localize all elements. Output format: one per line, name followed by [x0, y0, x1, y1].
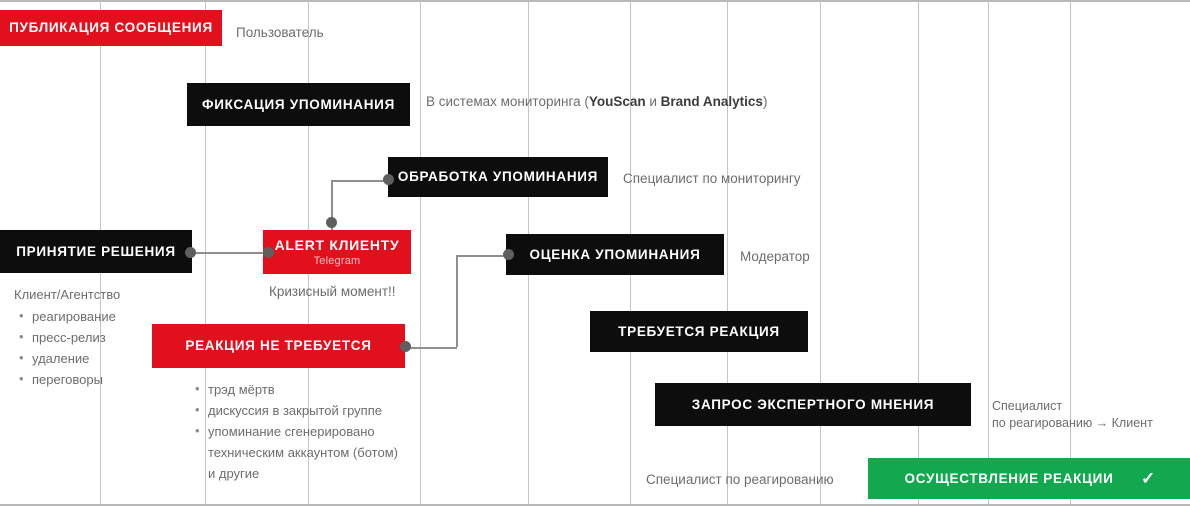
grid-line [988, 2, 989, 504]
node-dot-decision-out [185, 247, 196, 258]
note-monitoring-mid: и [646, 94, 661, 109]
note-response-specialist-client: Специалист по реагированию → Клиент [992, 398, 1153, 432]
stage-decision[interactable]: ПРИНЯТИЕ РЕШЕНИЯ [0, 230, 192, 273]
stage-reaction-needed-label: ТРЕБУЕТСЯ РЕАКЦИЯ [618, 324, 780, 340]
stage-alert-sublabel: Telegram [314, 255, 361, 267]
stage-publication-label: ПУБЛИКАЦИЯ СООБЩЕНИЯ [9, 20, 213, 36]
stage-execute-reaction-label: ОСУЩЕСТВЛЕНИЕ РЕАКЦИИ [905, 471, 1114, 487]
list-item: дискуссия в закрытой группе [208, 400, 450, 421]
note-response-specialist: Специалист по реагированию [646, 471, 834, 489]
grid-line [727, 2, 728, 504]
stage-publication[interactable]: ПУБЛИКАЦИЯ СООБЩЕНИЯ [0, 10, 222, 46]
stage-reaction-needed[interactable]: ТРЕБУЕТСЯ РЕАКЦИЯ [590, 311, 808, 352]
connector-evaluation-left [456, 255, 508, 257]
check-icon[interactable]: ✓ [1141, 470, 1155, 487]
stage-evaluation[interactable]: ОЦЕНКА УПОМИНАНИЯ [506, 234, 724, 275]
note-monitoring-specialist: Специалист по мониторингу [623, 170, 801, 188]
node-dot-processing-in [383, 174, 394, 185]
grid-line [820, 2, 821, 504]
list-item: упоминание сгенерировано [208, 421, 450, 442]
note-monitoring-systems: В системах мониторинга (YouScan и Brand … [426, 93, 767, 111]
flowchart-canvas: ПУБЛИКАЦИЯ СООБЩЕНИЯ Пользователь ФИКСАЦ… [0, 0, 1190, 506]
stage-processing[interactable]: ОБРАБОТКА УПОМИНАНИЯ [388, 157, 608, 197]
list-item: реагирование [32, 306, 164, 327]
list-item: трэд мёртв [208, 379, 450, 400]
list-no-reaction-reasons: трэд мёртв дискуссия в закрытой группе у… [190, 379, 450, 484]
list-no-reaction-items: трэд мёртв дискуссия в закрытой группе у… [190, 379, 450, 442]
note-monitoring-prefix: В системах мониторинга ( [426, 94, 589, 109]
list-item: переговоры [32, 369, 164, 390]
node-dot-evaluation-in [503, 249, 514, 260]
stage-no-reaction-label: РЕАКЦИЯ НЕ ТРЕБУЕТСЯ [185, 338, 371, 354]
node-dot-alert-in [263, 247, 274, 258]
stage-expert-request-label: ЗАПРОС ЭКСПЕРТНОГО МНЕНИЯ [692, 397, 934, 413]
list-client-agency-header: Клиент/Агентство [14, 284, 164, 305]
note-monitoring-suffix: ) [763, 94, 768, 109]
stage-expert-request[interactable]: ЗАПРОС ЭКСПЕРТНОГО МНЕНИЯ [655, 383, 971, 426]
node-dot-alert-top [326, 217, 337, 228]
grid-line [918, 2, 919, 504]
stage-alert[interactable]: ALERT КЛИЕНТУ Telegram [263, 230, 411, 274]
node-dot-noreaction-out [400, 341, 411, 352]
stage-processing-label: ОБРАБОТКА УПОМИНАНИЯ [398, 169, 598, 185]
connector-noreaction-right [405, 347, 457, 349]
note-system-youscan: YouScan [589, 94, 646, 109]
note-moderator: Модератор [740, 248, 810, 266]
stage-fixation[interactable]: ФИКСАЦИЯ УПОМИНАНИЯ [187, 83, 410, 126]
stage-fixation-label: ФИКСАЦИЯ УПОМИНАНИЯ [202, 97, 395, 113]
stage-no-reaction[interactable]: РЕАКЦИЯ НЕ ТРЕБУЕТСЯ [152, 324, 405, 368]
stage-evaluation-label: ОЦЕНКА УПОМИНАНИЯ [530, 247, 701, 263]
note-crisis-moment: Кризисный момент!! [269, 283, 396, 301]
stage-decision-label: ПРИНЯТИЕ РЕШЕНИЯ [16, 244, 176, 260]
list-continuation-line-2: и другие [190, 463, 450, 484]
stage-alert-label: ALERT КЛИЕНТУ [275, 237, 400, 253]
list-item: удаление [32, 348, 164, 369]
list-item: пресс-релиз [32, 327, 164, 348]
list-continuation-line-1: техническим аккаунтом (ботом) [190, 442, 450, 463]
connector-evaluation-down [456, 255, 458, 347]
note-user: Пользователь [236, 24, 324, 42]
note-system-brandanalytics: Brand Analytics [661, 94, 763, 109]
list-client-agency: Клиент/Агентство реагирование пресс-рели… [14, 284, 164, 390]
connector-decision-alert [190, 252, 268, 254]
list-client-agency-items: реагирование пресс-релиз удаление перего… [14, 306, 164, 390]
